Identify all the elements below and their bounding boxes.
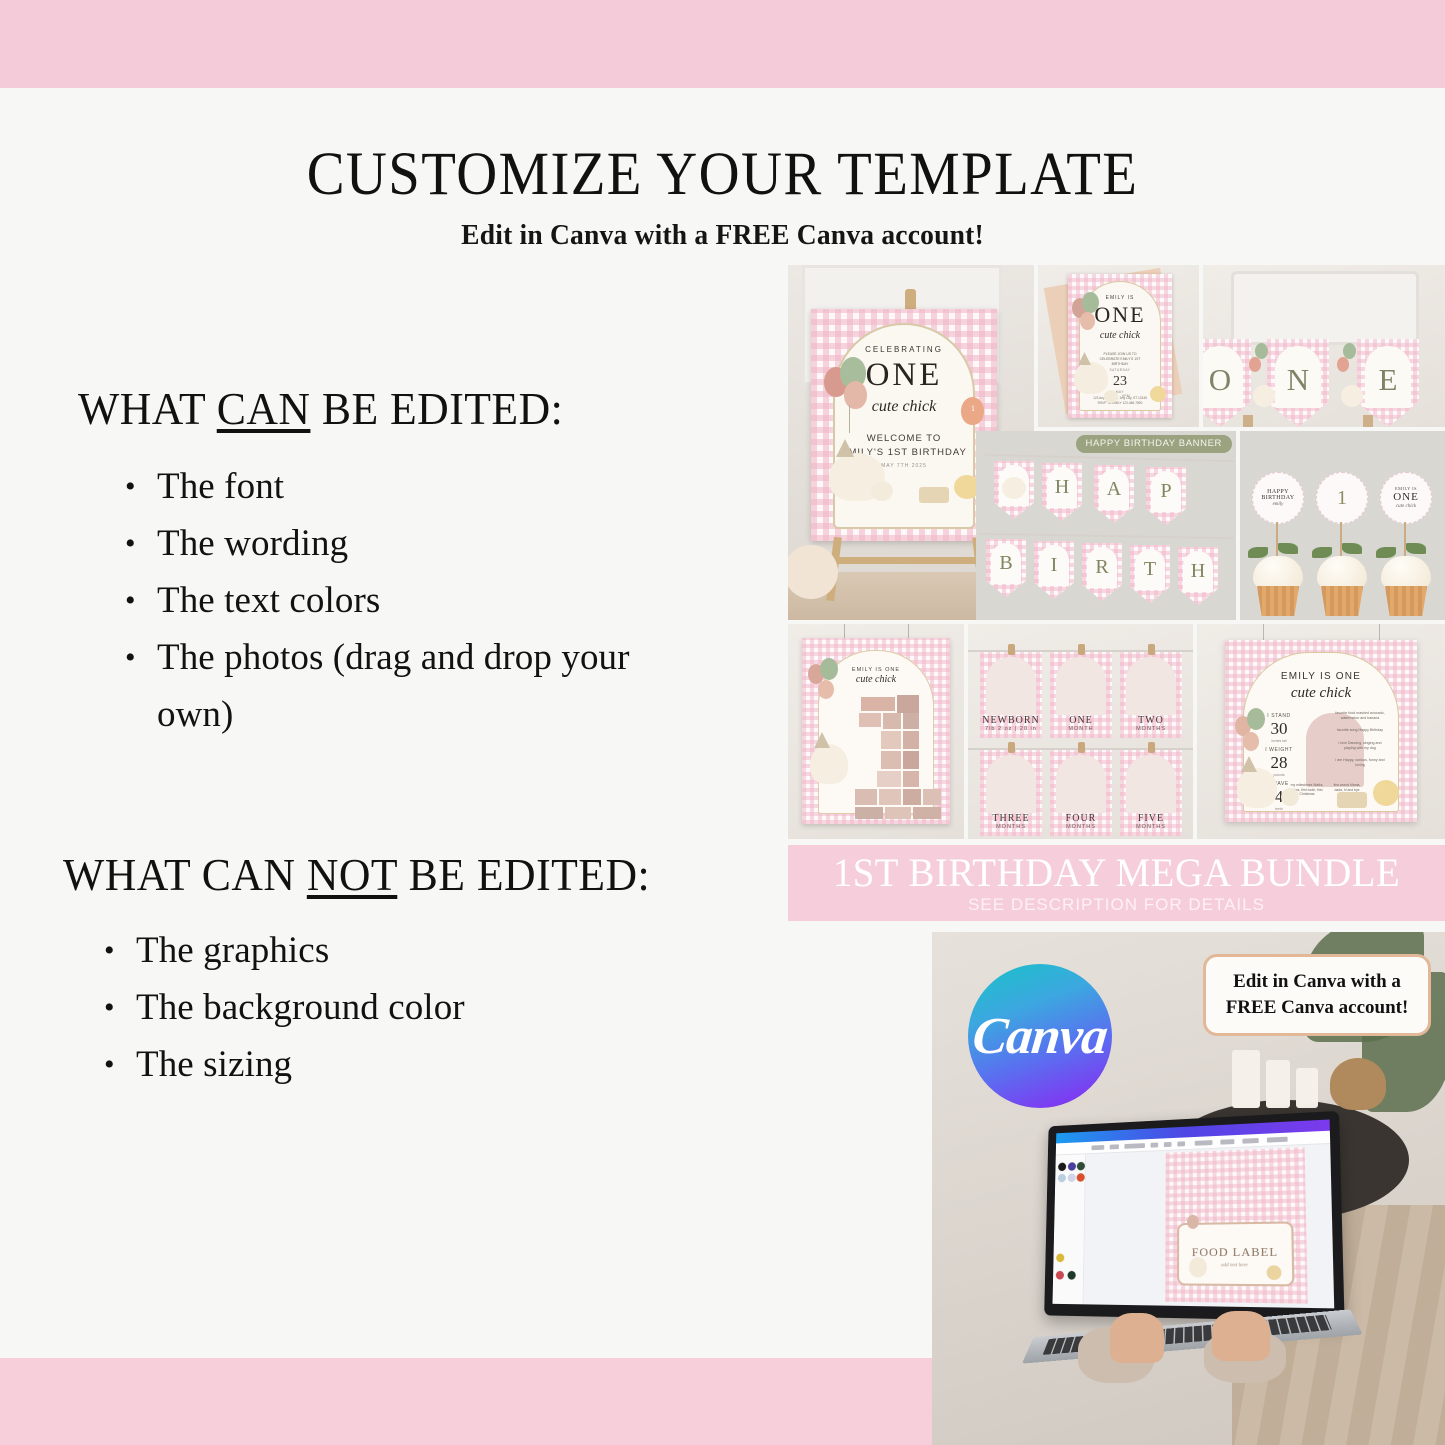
milestone-card-two-months: TWO MONTHS bbox=[1120, 652, 1182, 738]
chick-icon bbox=[1104, 390, 1118, 403]
balloon-icon bbox=[1243, 732, 1259, 751]
card-label: FIVE MONTHS bbox=[1120, 813, 1182, 830]
heading-text-before: WHAT CAN bbox=[63, 849, 307, 900]
card-label-big: FOUR bbox=[1050, 813, 1112, 824]
topper-number: 1 bbox=[1337, 488, 1347, 509]
hen-icon bbox=[1002, 477, 1026, 499]
canva-laptop-photo: Canva Edit in Canva with a FREE Canva ac… bbox=[932, 932, 1445, 1445]
leaf-icon bbox=[1342, 543, 1362, 554]
card-label-small: MONTHS bbox=[1120, 726, 1182, 732]
page-title: CUSTOMIZE YOUR TEMPLATE bbox=[51, 140, 1395, 210]
section-heading-cannot-be-edited: WHAT CAN NOT BE EDITED: bbox=[63, 848, 650, 901]
bottom-pink-band bbox=[0, 1358, 932, 1445]
card-label-big: THREE bbox=[980, 813, 1042, 824]
callout-line2: FREE Canva account! bbox=[1226, 997, 1409, 1018]
list-item: The graphics bbox=[100, 922, 465, 979]
balloon-icon bbox=[1249, 357, 1261, 372]
balloon-number-text: 1 bbox=[967, 404, 979, 413]
hand-right bbox=[1212, 1311, 1270, 1361]
topper-line3: cute chick bbox=[1393, 504, 1419, 509]
cupcake-topper-2: 1 bbox=[1316, 472, 1368, 524]
card-photo bbox=[1056, 755, 1106, 813]
stats-emily-is-one-text: EMILY IS ONE bbox=[1244, 671, 1398, 682]
collage-tile-cupcake-toppers: HAPPY BIRTHDAY emily 1 bbox=[1240, 431, 1445, 620]
clothespin-icon bbox=[1078, 644, 1085, 655]
list-cannot-be-edited: The graphics The background color The si… bbox=[100, 922, 465, 1093]
card-label-small: 7lb 2 oz | 20 in bbox=[980, 726, 1042, 732]
card-photo bbox=[986, 755, 1036, 813]
card-photo bbox=[1126, 657, 1176, 715]
sign-celebrating-text: CELEBRATING bbox=[835, 345, 973, 354]
stats-note: favorite food mashed avocado, watermelon… bbox=[1334, 711, 1386, 721]
balloon-icon bbox=[1337, 357, 1349, 372]
clothespin-icon bbox=[1078, 742, 1085, 753]
hen-icon bbox=[810, 744, 848, 784]
hen-icon bbox=[1253, 385, 1275, 407]
highchair-graphic bbox=[1231, 271, 1419, 345]
flag-letter: P bbox=[1146, 480, 1186, 503]
card-label-small: MONTHS bbox=[1120, 824, 1182, 830]
clothespin-icon bbox=[1148, 742, 1155, 753]
poster-page: CUSTOMIZE YOUR TEMPLATE Edit in Canva wi… bbox=[0, 0, 1445, 1445]
laptop: FOOD LABEL add text here bbox=[1036, 1117, 1348, 1377]
cake-icon bbox=[1337, 792, 1367, 808]
flag-letter: B bbox=[986, 552, 1026, 575]
leaf-icon bbox=[1312, 547, 1332, 558]
hen-icon bbox=[1341, 385, 1363, 407]
stats-notes: favorite food mashed avocado, watermelon… bbox=[1334, 711, 1386, 775]
list-item: The sizing bbox=[100, 1036, 465, 1093]
invite-footer-text: 123 Anywhere St., Any City, ST 12345 RSV… bbox=[1092, 396, 1148, 405]
card-label-big: NEWBORN bbox=[980, 715, 1042, 726]
flag-letter: H bbox=[1042, 476, 1082, 499]
milestone-card-one-month: ONE MONTH bbox=[1050, 652, 1112, 738]
card-label-big: FIVE bbox=[1120, 813, 1182, 824]
cake-icon bbox=[919, 487, 949, 503]
frosting bbox=[1317, 556, 1367, 590]
balloon-icon bbox=[1082, 292, 1099, 313]
balloon-icon bbox=[1247, 708, 1265, 730]
photo-collage-board: EMILY IS ONE cute chick bbox=[802, 638, 950, 824]
topper-line2: BIRTHDAY bbox=[1261, 495, 1294, 501]
flag-letter: E bbox=[1357, 362, 1419, 398]
sign-welcome-line1: WELCOME TO bbox=[867, 433, 942, 444]
card-label: NEWBORN 7lb 2 oz | 20 in bbox=[980, 715, 1042, 732]
milestone-card-four-months: FOUR MONTHS bbox=[1050, 750, 1112, 836]
hen-icon bbox=[1189, 1257, 1207, 1277]
card-label: TWO MONTHS bbox=[1120, 715, 1182, 732]
flag-letter: R bbox=[1082, 556, 1122, 579]
list-item: The photos (drag and drop your own) bbox=[121, 629, 681, 743]
list-item: The background color bbox=[100, 979, 465, 1036]
chick-icon bbox=[1267, 1265, 1282, 1280]
promo-title: 1ST BIRTHDAY MEGA BUNDLE bbox=[798, 849, 1435, 896]
canva-color-sidebar[interactable] bbox=[1053, 1154, 1087, 1304]
page-subtitle: Edit in Canva with a FREE Canva account! bbox=[36, 219, 1409, 252]
topper-line2: ONE bbox=[1393, 492, 1419, 504]
callout-line1: Edit in Canva with a bbox=[1233, 971, 1401, 992]
canva-logo-text: Canva bbox=[970, 1007, 1110, 1066]
clothespin-icon bbox=[1008, 742, 1015, 753]
happy-birthday-banner-label: HAPPY BIRTHDAY BANNER bbox=[1076, 435, 1233, 453]
card-label-big: TWO bbox=[1120, 715, 1182, 726]
list-item: The text colors bbox=[121, 572, 681, 629]
stats-note: favorite song Happy Birthday bbox=[1334, 728, 1386, 733]
flag-letter: A bbox=[1094, 478, 1134, 501]
hand-left bbox=[1110, 1313, 1164, 1363]
invite-date-number: 23 bbox=[1113, 374, 1127, 389]
frosting bbox=[1253, 556, 1303, 590]
yellow-chick-icon bbox=[1150, 386, 1166, 402]
card-label: THREE MONTHS bbox=[980, 813, 1042, 830]
stats-poster-board: EMILY IS ONE cute chick I STAND 30 inche… bbox=[1225, 640, 1417, 822]
balloon-icon bbox=[1187, 1215, 1199, 1229]
chick-icon bbox=[871, 481, 893, 501]
promo-banner: 1ST BIRTHDAY MEGA BUNDLE SEE DESCRIPTION… bbox=[788, 845, 1445, 921]
yellow-chick-icon bbox=[1373, 780, 1399, 806]
laptop-lid: FOOD LABEL add text here bbox=[1044, 1111, 1344, 1322]
collage-tile-one-banner: O N E bbox=[1203, 265, 1445, 427]
card-photo bbox=[1126, 755, 1176, 813]
clothespin-icon bbox=[1148, 644, 1155, 655]
top-pink-band bbox=[0, 0, 1445, 88]
card-label-big: ONE bbox=[1050, 715, 1112, 726]
list-item: The font bbox=[121, 458, 681, 515]
leaf-icon bbox=[1376, 547, 1396, 558]
heading-text-before: WHAT bbox=[78, 383, 217, 434]
leaf-icon bbox=[1278, 543, 1298, 554]
product-collage: CELEBRATING ONE cute chick WELCOME TO EM… bbox=[788, 265, 1445, 921]
chick-icon bbox=[1281, 788, 1299, 806]
collage-tile-happy-birthday-banner: HAPPY BIRTHDAY BANNER H A P B bbox=[976, 431, 1236, 620]
heading-emphasis-not: NOT bbox=[307, 849, 397, 900]
section-heading-can-be-edited: WHAT CAN BE EDITED: bbox=[78, 382, 563, 435]
food-label-design: FOOD LABEL add text here bbox=[1177, 1221, 1294, 1286]
stats-cute-chick-text: cute chick bbox=[1244, 685, 1398, 702]
flag-letter: H bbox=[1178, 560, 1218, 583]
flag-letter: I bbox=[1034, 554, 1074, 577]
card-photo bbox=[986, 657, 1036, 715]
clothespin-icon bbox=[1008, 644, 1015, 655]
collage-tile-invitation: EMILY IS ONE cute chick PLEASE JOIN US T… bbox=[1038, 265, 1199, 427]
welcome-sign-board: CELEBRATING ONE cute chick WELCOME TO EM… bbox=[811, 309, 997, 541]
flag-letter: O bbox=[1203, 362, 1251, 398]
card-label-small: MONTHS bbox=[1050, 824, 1112, 830]
flag-letter: N bbox=[1267, 362, 1329, 398]
milestone-card-newborn: NEWBORN 7lb 2 oz | 20 in bbox=[980, 652, 1042, 738]
stat-unit: inches tall bbox=[1258, 739, 1300, 743]
card-photo bbox=[1056, 657, 1106, 715]
collage-tile-milestone-stats-poster: EMILY IS ONE cute chick I STAND 30 inche… bbox=[1197, 624, 1445, 839]
balloon-icon bbox=[1080, 312, 1095, 330]
heading-emphasis-can: CAN bbox=[217, 383, 311, 434]
edit-in-canva-callout: Edit in Canva with a FREE Canva account! bbox=[1203, 954, 1431, 1036]
frosting bbox=[1381, 556, 1431, 590]
balloon-icon bbox=[820, 658, 838, 680]
cupcake-liner bbox=[1254, 586, 1302, 616]
invitation-card: EMILY IS ONE cute chick PLEASE JOIN US T… bbox=[1068, 274, 1172, 418]
stats-note: i love Dancing, singing and playing with… bbox=[1334, 741, 1386, 751]
collage-tile-monthly-milestone-cards: NEWBORN 7lb 2 oz | 20 in ONE MONTH TWO M… bbox=[968, 624, 1193, 839]
leaf-icon bbox=[1406, 543, 1426, 554]
card-label-small: MONTH bbox=[1050, 726, 1112, 732]
hen-icon bbox=[1074, 362, 1108, 394]
heading-text-after: BE EDITED: bbox=[397, 849, 650, 900]
cupcake-topper-1: HAPPY BIRTHDAY emily bbox=[1252, 472, 1304, 524]
laptop-screen[interactable]: FOOD LABEL add text here bbox=[1053, 1119, 1335, 1308]
topper-line3: emily bbox=[1261, 502, 1294, 507]
card-label-small: MONTHS bbox=[980, 824, 1042, 830]
balloon-icon bbox=[818, 680, 834, 699]
hen-icon bbox=[1237, 768, 1277, 808]
flag-letter: T bbox=[1130, 558, 1170, 581]
list-item: The wording bbox=[121, 515, 681, 572]
canva-logo: Canva bbox=[968, 964, 1112, 1108]
decor-object bbox=[1330, 1058, 1386, 1110]
stats-note: i am Happy, curious, funny and loving bbox=[1334, 758, 1386, 768]
cupcake-liner bbox=[1382, 586, 1430, 616]
milestone-card-five-months: FIVE MONTHS bbox=[1120, 750, 1182, 836]
canva-design-canvas[interactable]: FOOD LABEL add text here bbox=[1165, 1147, 1308, 1304]
promo-subtitle: SEE DESCRIPTION FOR DETAILS bbox=[788, 895, 1445, 915]
milestone-card-three-months: THREE MONTHS bbox=[980, 750, 1042, 836]
list-can-be-edited: The font The wording The text colors The… bbox=[121, 458, 681, 743]
invite-cute-chick-text: cute chick bbox=[1080, 330, 1160, 341]
cupcake-topper-3: EMILY IS ONE cute chick bbox=[1380, 472, 1432, 524]
heading-text-after: BE EDITED: bbox=[310, 383, 563, 434]
collage-tile-photo-collage-board: EMILY IS ONE cute chick bbox=[788, 624, 964, 839]
leaf-icon bbox=[1248, 547, 1268, 558]
card-label: FOUR MONTHS bbox=[1050, 813, 1112, 830]
card-label: ONE MONTH bbox=[1050, 715, 1112, 732]
cupcake-liner bbox=[1318, 586, 1366, 616]
